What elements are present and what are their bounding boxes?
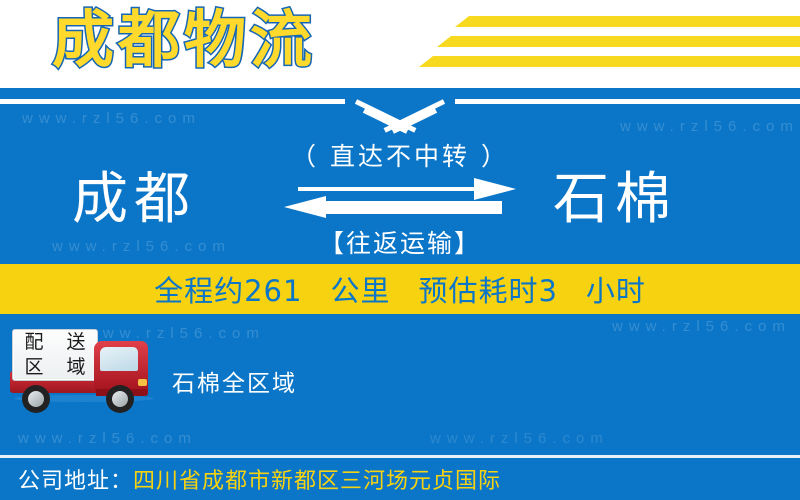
address-value: 四川省成都市新都区三河场元贞国际 xyxy=(133,469,501,494)
logistics-banner: www.rzl56.com www.rzl56.com www.rzl56.co… xyxy=(0,0,800,500)
duration-unit: 小时 xyxy=(586,268,646,310)
truck-wheel xyxy=(22,385,50,413)
address-label: 公司地址： xyxy=(18,469,133,494)
truck-window xyxy=(100,347,138,371)
distance-value: 全程约261 xyxy=(154,268,302,310)
arrow-left-icon xyxy=(284,196,502,218)
bidirectional-arrow-icon xyxy=(284,178,516,220)
header-band: 成都物流 xyxy=(0,0,800,88)
cargo-char: 送 xyxy=(66,333,85,352)
watermark: www.rzl56.com xyxy=(612,318,791,335)
watermark: www.rzl56.com xyxy=(18,430,197,447)
route-info-bar: 全程约261 公里 预估耗时3 小时 xyxy=(0,264,800,314)
page-title: 成都物流 xyxy=(52,4,316,76)
footer-divider xyxy=(0,455,800,458)
decorative-stripes xyxy=(415,14,800,76)
delivery-area-label: 石棉全区域 xyxy=(172,364,297,398)
cargo-char: 区 xyxy=(24,358,43,377)
watermark: www.rzl56.com xyxy=(430,430,609,447)
round-trip-note: 【往返运输】 xyxy=(0,224,800,260)
truck-cargo-box: 配 送 区 域 xyxy=(12,329,98,381)
origin-city: 成都 xyxy=(72,168,196,232)
duration-value: 预估耗时3 xyxy=(418,268,557,310)
distance-unit: 公里 xyxy=(330,268,390,310)
cargo-char: 域 xyxy=(66,358,85,377)
stripe-icon xyxy=(419,56,800,67)
arrow-right-icon xyxy=(298,178,516,200)
truck-wheel xyxy=(106,385,134,413)
truck-headlight xyxy=(138,379,147,386)
divider-with-chevron xyxy=(0,88,800,124)
cargo-char: 配 xyxy=(24,333,43,352)
stripe-icon xyxy=(455,16,800,27)
stripe-icon xyxy=(437,36,800,47)
company-address: 公司地址：四川省成都市新都区三河场元贞国际 xyxy=(18,463,501,495)
delivery-truck-icon: 配 送 区 域 xyxy=(8,327,160,407)
destination-city: 石棉 xyxy=(553,168,677,232)
